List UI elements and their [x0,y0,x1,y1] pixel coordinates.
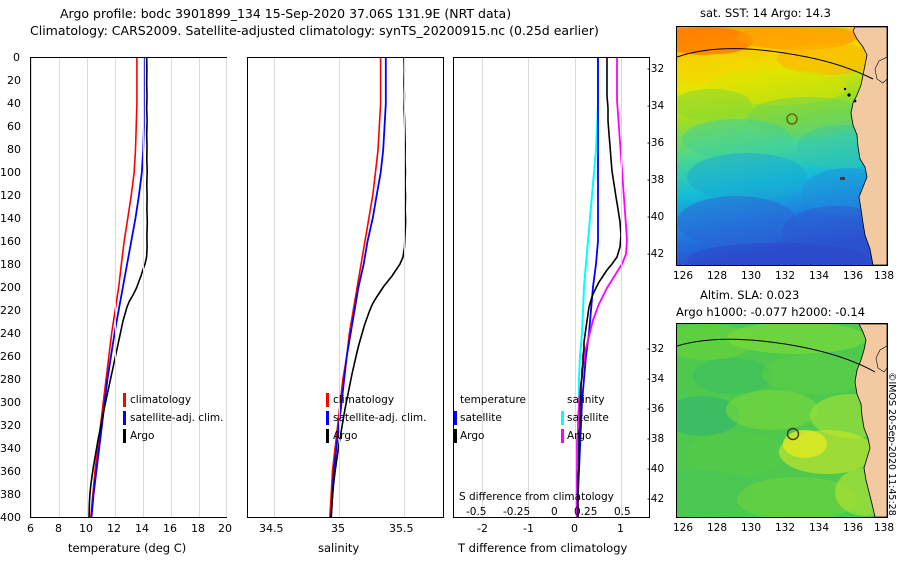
sal-xtick-355: 35.5 [389,522,414,535]
sst-ytick--38: -38 [647,174,664,186]
sst-ytick--36: -36 [647,137,664,149]
sla-xtick-136: 136 [843,522,863,534]
figure-title-line1: Argo profile: bodc 3901899_134 15-Sep-20… [60,6,511,21]
difference-panel: temperature salinity satellite satellite… [453,57,650,518]
temperature-panel: climatology satellite-adj. clim. Argo [30,57,227,518]
sst-ytick--40: -40 [647,211,664,223]
sst-xtick-136: 136 [843,270,863,282]
sla-xtick-130: 130 [741,522,761,534]
sal-xtick-345: 34.5 [259,522,284,535]
legend-label-satellite-adj-s: satellite-adj. clim. [333,412,426,424]
sla-ytick--40: -40 [647,463,664,475]
sla-map-title-line2: Argo h1000: -0.077 h2000: -0.14 [676,305,865,319]
sst-xtick-130: 130 [741,270,761,282]
figure-root: Argo profile: bodc 3901899_134 15-Sep-20… [0,0,900,580]
sla-xtick-138: 138 [874,522,894,534]
tdiff-xtick--2: -2 [477,522,488,535]
sla-map-panel [676,323,888,518]
legend-color-t-satellite [454,411,457,425]
temp-xtick-16: 16 [163,522,177,535]
sla-xtick-128: 128 [707,522,727,534]
legend-color-climatology-t [123,393,126,407]
salinity-axis-label: salinity [318,541,359,555]
legend-label-argo-s: Argo [333,430,357,442]
legend-label-satellite-adj-t: satellite-adj. clim. [130,412,223,424]
sdiff-xtick-0: 0 [551,506,558,518]
legend-color-s-argo [561,429,564,443]
sst-ytick--34: -34 [647,100,664,112]
salinity-difference-axis-label: S difference from climatology [459,491,614,503]
sst-map-image [677,27,887,265]
sla-ytick--38: -38 [647,433,664,445]
legend-label-climatology-s: climatology [333,394,394,406]
temperature-curves [31,58,226,517]
sla-map-image [677,324,887,517]
tdiff-xtick--1: -1 [523,522,534,535]
sla-map-title-line1: Altim. SLA: 0.023 [700,288,799,302]
sst-xtick-134: 134 [809,270,829,282]
sdiff-xtick-025: 0.25 [574,506,597,518]
sdiff-xtick--025: -0.25 [503,506,530,518]
sst-ytick--32: -32 [647,63,664,75]
tdiff-xtick-1: 1 [617,522,624,535]
temp-xtick-14: 14 [135,522,149,535]
legend-color-argo-t [123,429,126,443]
tdiff-xtick-0: 0 [571,522,578,535]
legend-label-t-satellite: satellite [460,412,502,424]
legend-color-t-argo [454,429,457,443]
legend-color-s-satellite [561,411,564,425]
sla-ytick--32: -32 [647,343,664,355]
legend-color-satellite-adj-t [123,411,126,425]
legend-color-climatology-s [326,393,329,407]
legend-label-s-argo: Argo [567,430,591,442]
difference-curves [454,58,649,517]
temp-xtick-12: 12 [107,522,121,535]
temp-xtick-10: 10 [79,522,93,535]
legend-label-argo-t: Argo [130,430,154,442]
temp-xtick-6: 6 [27,522,34,535]
salinity-panel: climatology satellite-adj. clim. Argo [247,57,444,518]
sla-ytick--36: -36 [647,403,664,415]
legend-color-satellite-adj-s [326,411,329,425]
sst-ytick--42: -42 [647,248,664,260]
legend-color-argo-s [326,429,329,443]
sdiff-xtick-05: 0.5 [614,506,631,518]
sla-ytick--42: -42 [647,493,664,505]
sla-xtick-134: 134 [809,522,829,534]
sst-xtick-128: 128 [707,270,727,282]
temp-xtick-18: 18 [191,522,205,535]
legend-label-s-satellite: satellite [567,412,609,424]
temperature-difference-axis-label: T difference from climatology [458,541,627,555]
sla-ytick--34: -34 [647,373,664,385]
sal-xtick-35: 35 [331,522,345,535]
sst-xtick-138: 138 [874,270,894,282]
sst-xtick-126: 126 [673,270,693,282]
sla-xtick-126: 126 [673,522,693,534]
legend-label-climatology-t: climatology [130,394,191,406]
legend-label-t-argo: Argo [460,430,484,442]
temp-xtick-8: 8 [55,522,62,535]
salinity-curves [248,58,443,517]
sdiff-xtick--05: -0.5 [466,506,487,518]
sst-xtick-132: 132 [775,270,795,282]
sla-xtick-132: 132 [775,522,795,534]
figure-title-line2: Climatology: CARS2009. Satellite-adjuste… [30,23,599,38]
sst-map-title: sat. SST: 14 Argo: 14.3 [700,6,831,20]
temperature-axis-label: temperature (deg C) [68,541,186,555]
copyright-text: ©IMOS 20-Sep-2020 11:45:28 [886,372,897,516]
legend-label-salinity: salinity [567,394,605,406]
sst-map-panel [676,26,888,266]
legend-label-temperature: temperature [460,394,526,406]
temp-xtick-20: 20 [218,522,232,535]
